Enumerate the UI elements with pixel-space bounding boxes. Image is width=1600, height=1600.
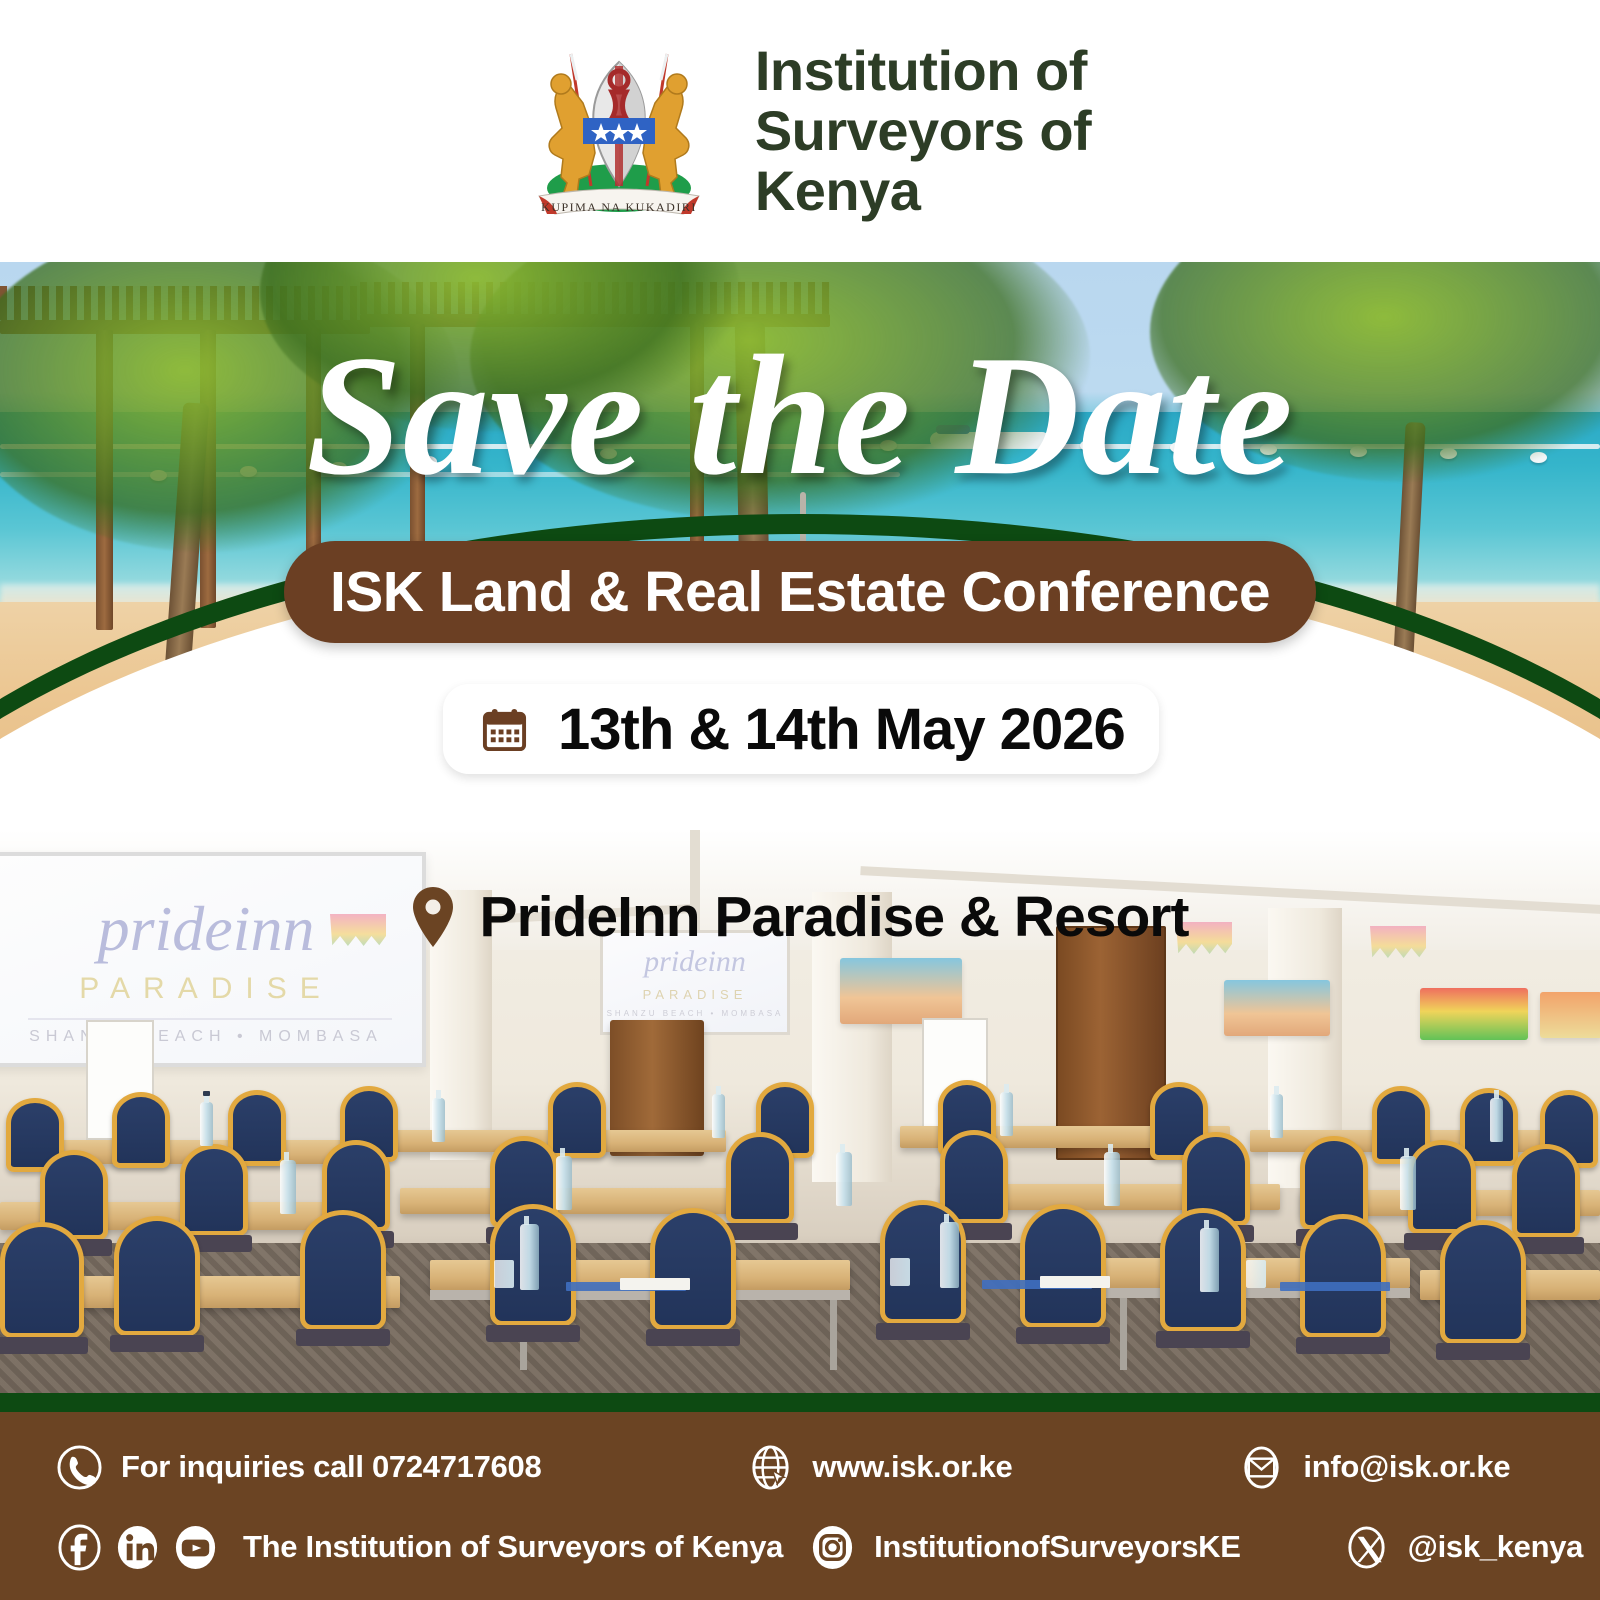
footer-phone-text: For inquiries call 0724717608 <box>121 1449 541 1485</box>
footer-email-text: info@isk.or.ke <box>1303 1449 1510 1485</box>
water-bottle <box>1200 1228 1219 1292</box>
paper-sheet <box>620 1278 690 1290</box>
phone-icon <box>56 1444 103 1491</box>
org-name-line-2: Surveyors of <box>755 101 1091 161</box>
screen-divider-rule <box>28 1018 392 1020</box>
save-the-date-headline: Save the Date <box>0 330 1600 502</box>
conference-title-banner: ISK Land & Real Estate Conference <box>284 541 1316 643</box>
water-bottle <box>556 1156 572 1210</box>
conference-date-pill: 13th & 14th May 2026 <box>443 684 1159 774</box>
water-bottle <box>280 1160 296 1214</box>
x-twitter-icon[interactable] <box>1343 1524 1390 1571</box>
conference-chair <box>1020 1204 1106 1328</box>
water-bottle <box>432 1098 445 1142</box>
org-name-line-1: Institution of <box>755 41 1091 101</box>
wall-art-fish <box>1540 992 1600 1038</box>
table-leg <box>830 1300 837 1370</box>
prideinn-subbrand-text: PARADISE <box>0 972 422 1006</box>
footer-x-item[interactable]: @isk_kenya <box>1343 1524 1583 1571</box>
water-bottle <box>836 1152 852 1206</box>
footer-phone-item[interactable]: For inquiries call 0724717608 <box>56 1444 541 1491</box>
venue-row: PrideInn Paradise & Resort <box>0 884 1600 950</box>
save-the-date-poster: KUPIMA NA KUKADIRI Institution of Survey… <box>0 0 1600 1600</box>
logo-motto-text: KUPIMA NA KUKADIRI <box>541 200 697 214</box>
contact-footer: For inquiries call 0724717608 www.isk.or… <box>0 1412 1600 1600</box>
drinking-glass <box>890 1258 910 1286</box>
youtube-icon[interactable] <box>172 1524 219 1571</box>
footer-website-text: www.isk.or.ke <box>812 1449 1012 1485</box>
conference-date-text: 13th & 14th May 2026 <box>558 696 1125 763</box>
conference-chair <box>1440 1220 1526 1344</box>
footer-email-item[interactable]: info@isk.or.ke <box>1238 1444 1510 1491</box>
wall-art-dolphin <box>840 958 962 1024</box>
footer-row-social: The Institution of Surveyors of Kenya In… <box>0 1508 1600 1586</box>
footer-x-text: @isk_kenya <box>1408 1529 1583 1565</box>
wall-art-dolphin <box>1224 980 1330 1036</box>
water-bottle <box>1490 1098 1503 1142</box>
social-icon-group <box>56 1524 219 1571</box>
prideinn-location-text: SHANZU BEACH • MOMBASA <box>0 1028 422 1046</box>
globe-icon <box>747 1444 794 1491</box>
venue-name-text: PrideInn Paradise & Resort <box>480 884 1189 950</box>
instagram-icon[interactable] <box>809 1524 856 1571</box>
isk-coat-of-arms-logo: KUPIMA NA KUKADIRI <box>509 36 729 226</box>
footer-row-contacts: For inquiries call 0724717608 www.isk.or… <box>0 1430 1600 1504</box>
water-bottle <box>1104 1152 1120 1206</box>
organization-name: Institution of Surveyors of Kenya <box>755 41 1091 221</box>
poster-header: KUPIMA NA KUKADIRI Institution of Survey… <box>0 0 1600 262</box>
green-divider-strip <box>0 1393 1600 1412</box>
notepad <box>1280 1282 1390 1291</box>
conference-chair <box>0 1222 84 1338</box>
table-leg <box>1120 1298 1127 1370</box>
conference-chair <box>114 1216 200 1336</box>
footer-social-handles-item[interactable]: The Institution of Surveyors of Kenya <box>56 1524 783 1571</box>
footer-social-handle-text: The Institution of Surveyors of Kenya <box>243 1529 783 1565</box>
water-bottle <box>200 1102 213 1146</box>
org-name-line-3: Kenya <box>755 161 1091 221</box>
facebook-icon[interactable] <box>56 1524 103 1571</box>
water-bottle <box>1270 1094 1283 1138</box>
prideinn-location-text-2: SHANZU BEACH • MOMBASA <box>603 1009 787 1018</box>
footer-website-item[interactable]: www.isk.or.ke <box>747 1444 1012 1491</box>
drinking-glass <box>494 1260 514 1288</box>
water-bottle <box>1400 1156 1416 1210</box>
wall-art-turtle <box>1420 988 1528 1040</box>
footer-instagram-item[interactable]: InstitutionofSurveyorsKE <box>809 1524 1241 1571</box>
conference-chair <box>650 1208 736 1330</box>
drinking-glass <box>1246 1260 1266 1288</box>
conference-chair <box>1300 1214 1386 1338</box>
location-pin-icon <box>412 887 454 947</box>
conference-chair <box>112 1092 170 1168</box>
calendar-icon <box>481 706 528 753</box>
footer-instagram-text: InstitutionofSurveyorsKE <box>874 1529 1241 1565</box>
water-bottle <box>1000 1092 1013 1136</box>
paper-sheet <box>1040 1276 1110 1288</box>
water-bottle <box>940 1222 959 1288</box>
prideinn-subbrand-text-2: PARADISE <box>603 987 787 1002</box>
bottle-cap <box>203 1091 210 1096</box>
water-bottle <box>520 1224 539 1290</box>
linkedin-icon[interactable] <box>114 1524 161 1571</box>
email-icon <box>1238 1444 1285 1491</box>
conference-chair <box>300 1210 386 1330</box>
prideinn-brand-text-2: prideinn <box>603 945 787 979</box>
water-bottle <box>712 1094 725 1138</box>
conference-title-text: ISK Land & Real Estate Conference <box>330 559 1270 625</box>
conference-chair <box>726 1132 794 1224</box>
